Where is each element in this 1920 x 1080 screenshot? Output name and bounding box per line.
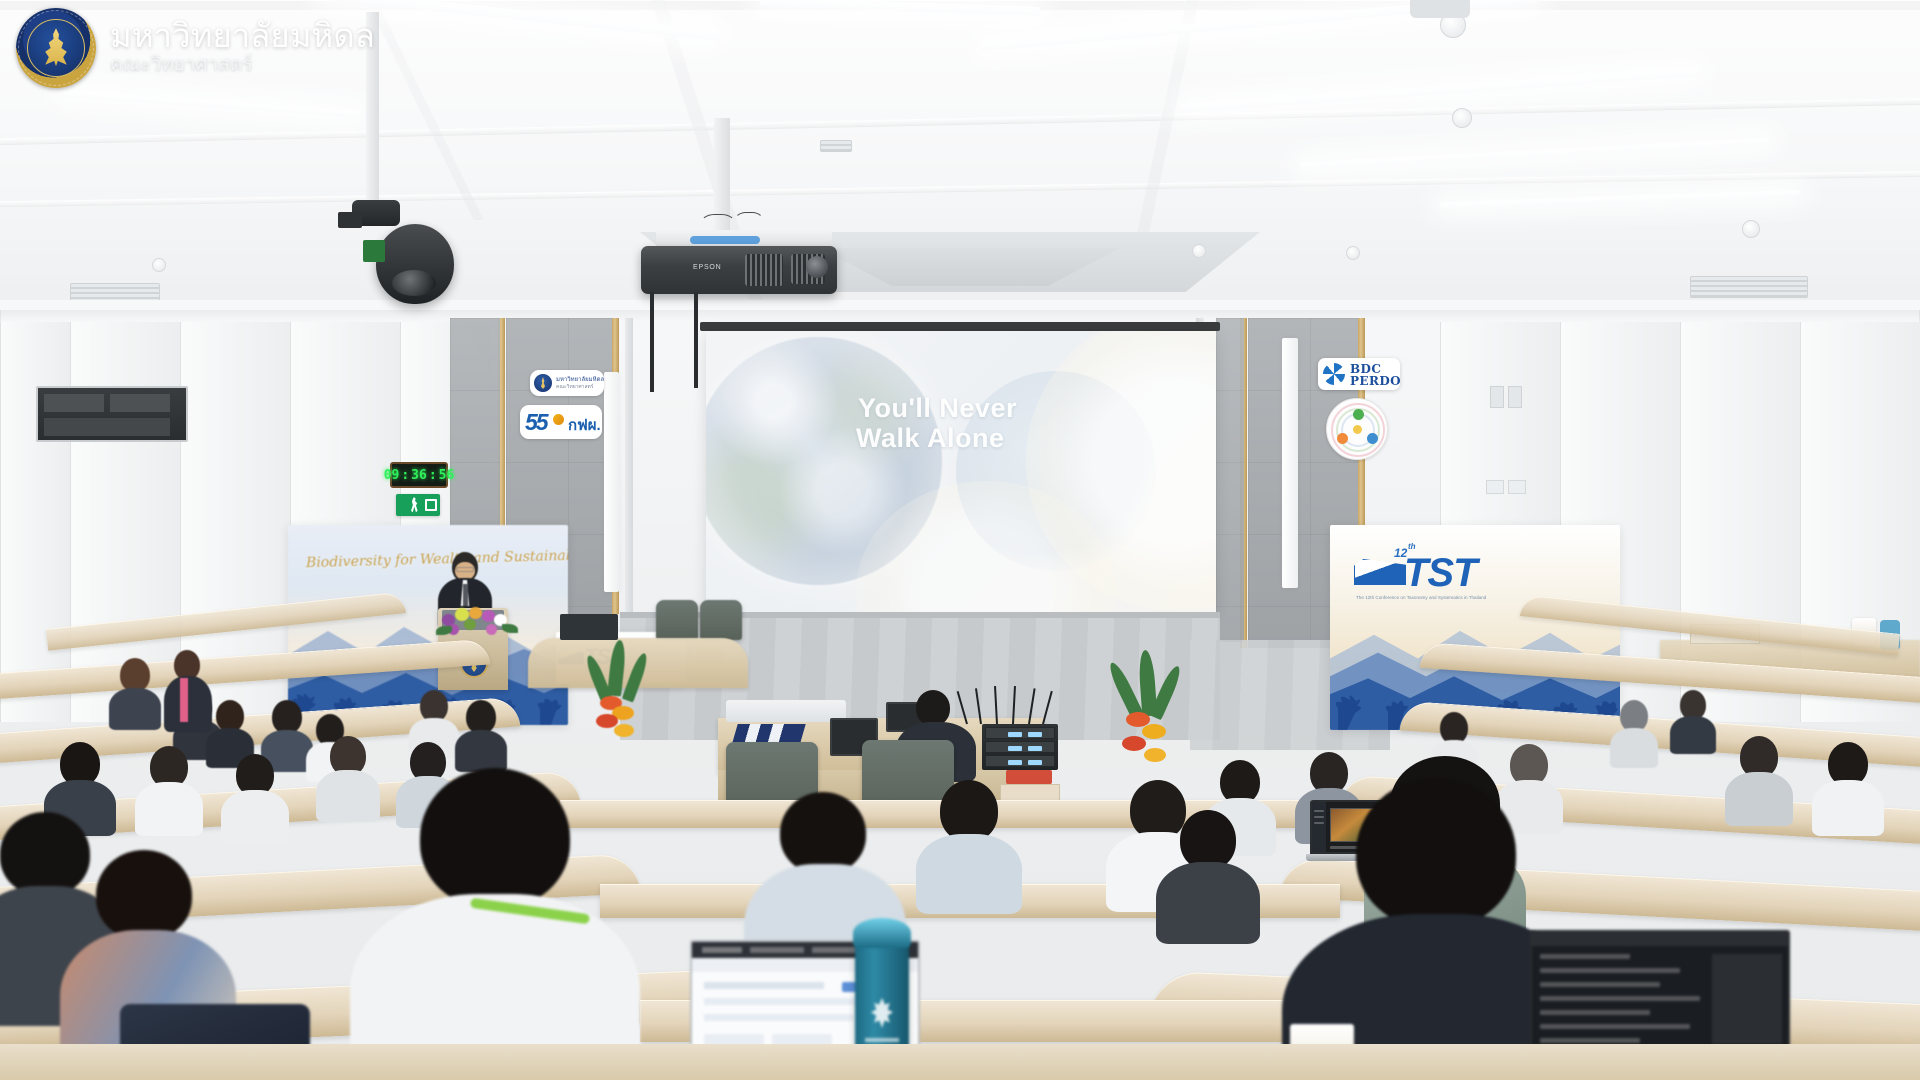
desk-riser (726, 700, 846, 722)
sdg-dot-yellow (1353, 425, 1362, 434)
wall-panel-plate (1486, 480, 1504, 494)
running-person-icon (410, 497, 419, 513)
tst-ordinal-suffix: th (1408, 542, 1416, 551)
stage-chair (700, 600, 742, 640)
stage-plant-left (580, 640, 690, 750)
stage-chair (656, 600, 698, 640)
bdc-perdo-logo: BDC PERDO (1318, 358, 1400, 390)
egat-flame-icon (553, 414, 564, 425)
network-cable (690, 236, 760, 244)
ceiling-spotlight (1742, 220, 1760, 238)
egat-org-label: กฟผ. (568, 413, 601, 437)
ceiling-spotlight (152, 258, 166, 272)
wall-socket (1508, 386, 1522, 408)
mahidol-seal-icon (534, 374, 552, 392)
sdg-dot-orange (1337, 433, 1348, 444)
sdg-dot-green (1353, 409, 1364, 420)
ceiling-spotlight (1452, 108, 1472, 128)
perdo-label: PERDO (1350, 375, 1401, 387)
ceiling-spotlight (1346, 246, 1360, 260)
tst-subtitle: The 12th Conference on Taxonomy and Syst… (1356, 595, 1486, 600)
wall-equipment-cabinet (36, 386, 188, 442)
projector-brand-label: EPSON (693, 264, 722, 271)
screen-top-casing (700, 322, 1220, 331)
projection-screen: You'll Never Walk Alone (706, 331, 1216, 615)
lecture-hall-photo: You'll Never Walk Alone EPSON BDC PERDO (0, 0, 1920, 1080)
bottle-botanical-logo (869, 998, 895, 1032)
sticker-faculty-text: คณะวิทยาศาสตร์ (556, 383, 593, 391)
presenter-glasses (456, 567, 474, 572)
watermark-faculty-name: คณะวิทยาศาสตร์ (110, 54, 375, 77)
watermark-logo-overlay: มหาวิทยาลัยมหิดล คณะวิทยาศาสตร์ (0, 0, 391, 96)
tst-acronym: TST (1404, 551, 1477, 596)
slide-headline-line2: Walk Alone (856, 423, 1005, 453)
digital-clock: 09 : 36 : 56 (390, 462, 448, 488)
sdg-wheel-badge (1326, 398, 1388, 460)
ptz-camera-dome (376, 224, 454, 304)
watermark-university-name: มหาวิทยาลัยมหิดล (110, 19, 375, 54)
lanyard-strap (180, 678, 188, 722)
ceiling-vent (1690, 276, 1808, 298)
sdg-dot-blue (1367, 433, 1378, 444)
clock-sep-1: : (401, 468, 409, 483)
mahidol-wall-sticker: มหาวิทยาลัยมหิดล คณะวิทยาศาสตร์ (530, 370, 604, 396)
presenter-tie (463, 584, 468, 606)
exit-door-icon (425, 499, 437, 511)
bottle-cap (853, 918, 911, 948)
camera-indicator (363, 240, 385, 262)
clock-sep-2: : (429, 468, 437, 483)
ceiling-spotlight (1192, 244, 1206, 258)
clock-hours: 09 (384, 468, 400, 483)
pinwheel-icon (1323, 363, 1345, 385)
egat-years-label: 55 (525, 409, 547, 436)
wireless-mic-rack (982, 724, 1058, 770)
stage-plant-right (1098, 650, 1218, 770)
wall-panel-plate (1508, 480, 1526, 494)
ceiling-vent (820, 140, 852, 152)
projector-lens (806, 256, 828, 278)
front-bench-edge (0, 1044, 1920, 1080)
podium-flower-arrangement (436, 604, 522, 642)
technician-head (916, 690, 950, 726)
stage-monitor (560, 614, 618, 640)
mahidol-university-seal-icon (16, 8, 96, 88)
tst-backdrop-banner: 12 th TST The 12th Conference on Taxonom… (1330, 525, 1620, 730)
slide-headline-line1: You'll Never (858, 393, 1017, 423)
red-supply-box (1006, 770, 1052, 784)
egat-anniversary-sticker: 55 กฟผ. (520, 405, 602, 439)
emergency-exit-sign (396, 494, 440, 516)
clock-seconds: 56 (439, 468, 455, 483)
clock-minutes: 36 (411, 468, 427, 483)
wall-socket (1490, 386, 1504, 408)
